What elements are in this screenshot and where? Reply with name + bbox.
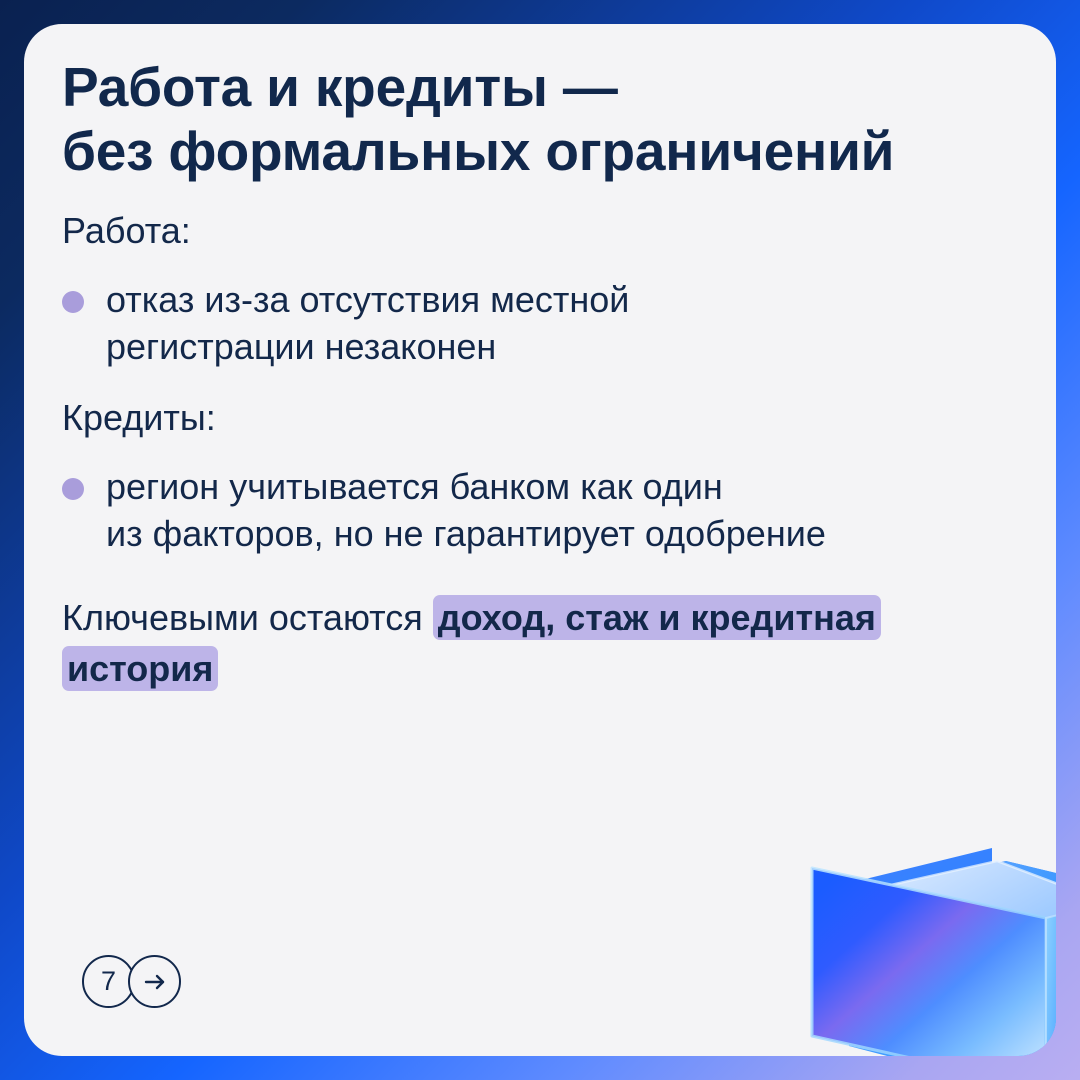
folder-front-panel: [812, 868, 1046, 1056]
closing-lead-text: Ключевыми остаются: [62, 597, 433, 638]
section-label-credits: Кредиты:: [62, 397, 1022, 438]
text-column: Работа и кредиты — без формальных ограни…: [62, 56, 1022, 730]
bullet-dot-icon: [62, 291, 84, 313]
content-card: Работа и кредиты — без формальных ограни…: [24, 24, 1056, 1056]
closing-statement: Ключевыми остаются доход, стаж и кредитн…: [62, 592, 1022, 694]
bullet-item-credits: регион учитывается банком как один из фа…: [62, 464, 1022, 558]
section-label-work: Работа:: [62, 210, 1022, 251]
bullet-text-credits: регион учитывается банком как один из фа…: [106, 464, 826, 558]
folder-front-panel-edge: [812, 868, 1046, 1056]
folder-back-panel: [849, 848, 1056, 1056]
bullet-item-work: отказ из-за отсутствия местной регистрац…: [62, 277, 1022, 371]
slide-canvas: Работа и кредиты — без формальных ограни…: [0, 0, 1080, 1080]
folder-inner-sheet: [864, 861, 1056, 1056]
bullet-dot-icon: [62, 478, 84, 500]
folder-inner-sheet-edge: [864, 861, 1056, 1056]
page-title: Работа и кредиты — без формальных ограни…: [62, 56, 1022, 184]
bullet-text-work: отказ из-за отсутствия местной регистрац…: [106, 277, 629, 371]
pager: 7: [82, 955, 181, 1008]
arrow-right-icon: [141, 968, 169, 996]
folder-back-right: [992, 848, 1056, 1056]
folder-3d-illustration: [794, 836, 1056, 1056]
next-slide-button[interactable]: [128, 955, 181, 1008]
